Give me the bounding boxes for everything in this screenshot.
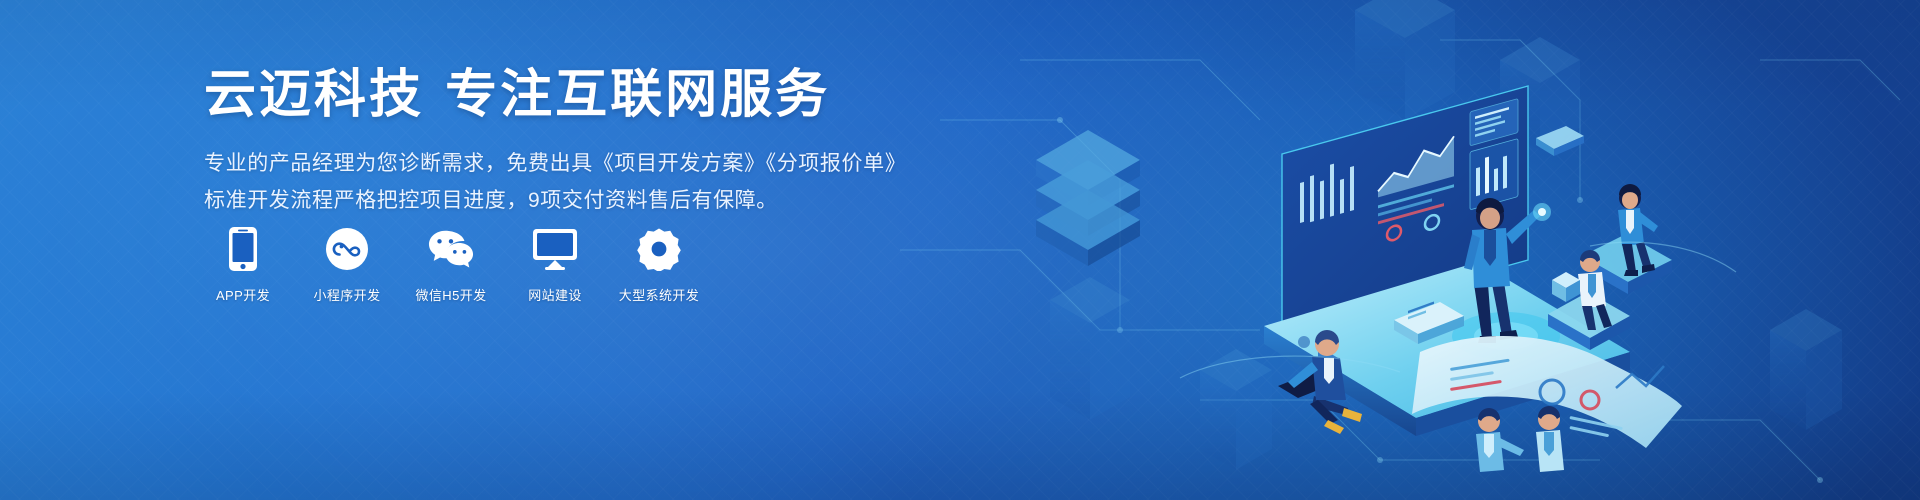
service-label: 大型系统开发 [619, 285, 699, 304]
wechat-icon [428, 226, 474, 272]
service-item-wechat-h5[interactable]: 微信H5开发 [412, 226, 490, 304]
service-item-website[interactable]: 网站建设 [516, 226, 594, 304]
banner-copy: 云迈科技 专注互联网服务 专业的产品经理为您诊断需求，免费出具《项目开发方案》《… [204, 66, 906, 220]
mini-program-icon [324, 226, 370, 272]
mobile-phone-icon [220, 226, 266, 272]
gear-icon [636, 226, 682, 272]
isometric-tech-illustration [900, 0, 1920, 500]
hero-banner: 云迈科技 专注互联网服务 专业的产品经理为您诊断需求，免费出具《项目开发方案》《… [0, 0, 1920, 500]
desktop-monitor-icon [532, 226, 578, 272]
service-label: 网站建设 [528, 285, 582, 304]
banner-subtitle: 专业的产品经理为您诊断需求，免费出具《项目开发方案》《分项报价单》 标准开发流程… [204, 146, 906, 219]
service-label: APP开发 [216, 285, 270, 304]
service-item-app[interactable]: APP开发 [204, 226, 282, 304]
service-item-large-system[interactable]: 大型系统开发 [620, 226, 698, 304]
subtitle-line-1: 专业的产品经理为您诊断需求，免费出具《项目开发方案》《分项报价单》 [204, 146, 906, 182]
page-title: 云迈科技 专注互联网服务 [204, 66, 906, 124]
subtitle-line-2: 标准开发流程严格把控项目进度，9项交付资料售后有保障。 [204, 183, 906, 219]
service-list: APP开发 小程序开发 [204, 226, 698, 304]
service-item-mini-program[interactable]: 小程序开发 [308, 226, 386, 304]
service-label: 小程序开发 [313, 285, 380, 304]
service-label: 微信H5开发 [415, 285, 486, 304]
